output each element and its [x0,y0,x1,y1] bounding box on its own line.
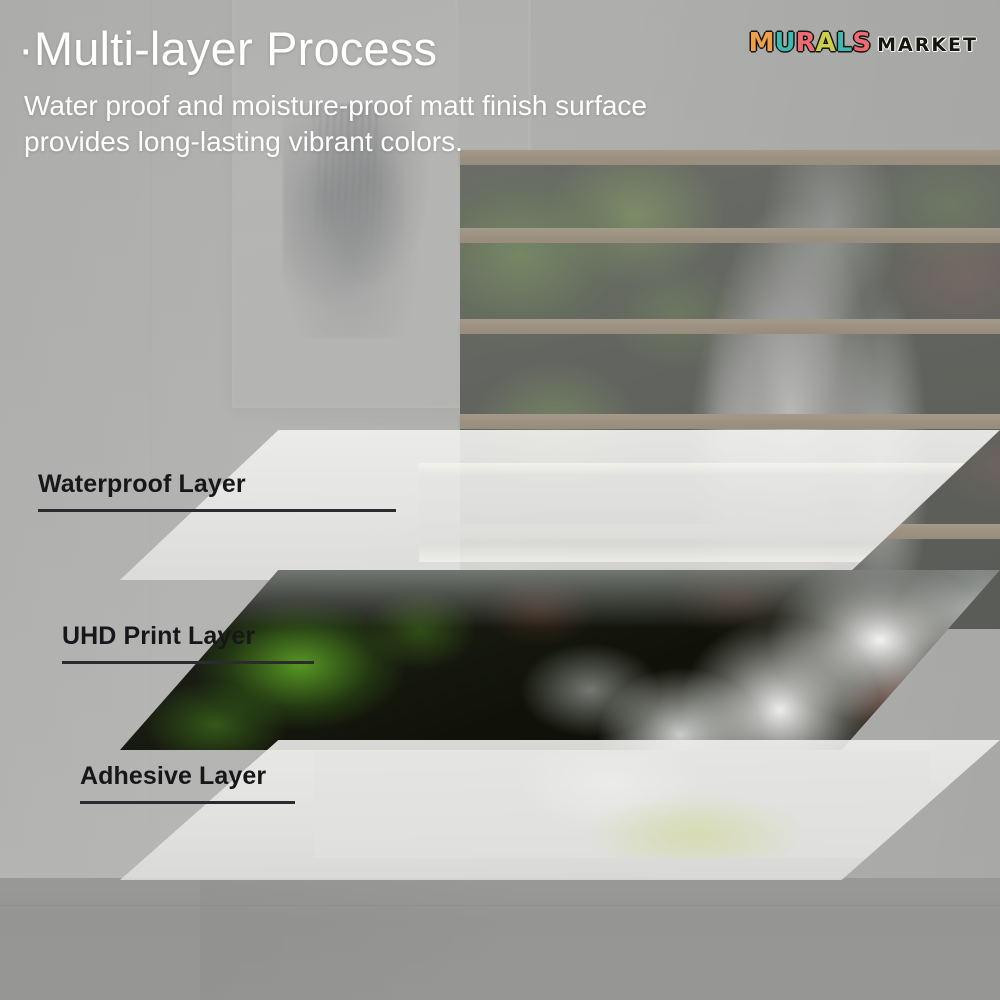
layer-label-text: Waterproof Layer [38,470,396,499]
layer-label-rule [62,661,314,664]
layer-panel-adhesive [120,740,1000,880]
layer-label-adhesive: Adhesive Layer [80,762,295,804]
promo-graphic: Waterproof Layer UHD Print Layer Adhesiv… [0,0,1000,1000]
layer-label-waterproof: Waterproof Layer [38,470,396,512]
brand-logo[interactable]: MURALS MARKET [749,30,978,56]
brand-logo-secondary: MARKET [877,34,978,56]
page-title: ·Multi-layer Process [18,22,858,76]
brand-logo-letter: R [796,30,816,56]
layer-label-text: Adhesive Layer [80,762,295,791]
heading-block: ·Multi-layer Process Water proof and moi… [18,22,858,160]
subtitle-line-1: Water proof and moisture-proof matt fini… [24,88,858,124]
layer-label-rule [38,509,396,512]
layer-label-uhd-print: UHD Print Layer [62,622,314,664]
brand-logo-letter: U [775,30,796,56]
brand-logo-primary: MURALS [749,30,871,56]
brand-logo-letter: M [749,30,775,56]
brand-logo-letter: L [836,30,853,56]
subtitle-line-2: provides long-lasting vibrant colors. [24,124,858,160]
layer-label-rule [80,801,295,804]
brand-logo-letter: S [852,30,871,56]
brand-logo-letter: A [816,30,836,56]
layer-panel-surface [120,740,1000,880]
page-subtitle: Water proof and moisture-proof matt fini… [24,88,858,160]
layer-label-text: UHD Print Layer [62,622,314,651]
